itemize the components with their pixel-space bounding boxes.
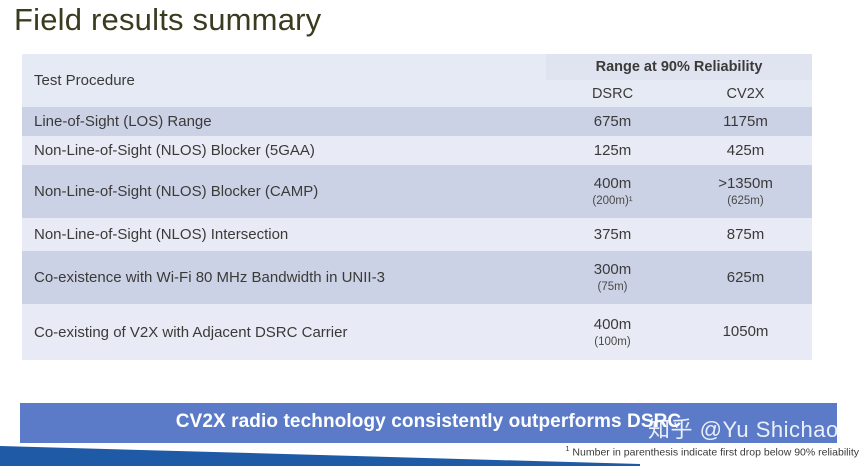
table-row: Non-Line-of-Sight (NLOS) Blocker (5GAA) …: [22, 136, 812, 165]
column-header-cv2x: CV2X: [679, 80, 812, 107]
cell-test-procedure: Non-Line-of-Sight (NLOS) Blocker (CAMP): [22, 165, 546, 218]
cv2x-secondary-value: (625m): [679, 194, 812, 209]
column-header-range-group: Range at 90% Reliability: [546, 54, 812, 80]
dsrc-secondary-value: (200m)¹: [546, 194, 679, 209]
cell-cv2x-value: 1050m: [679, 304, 812, 360]
cv2x-primary-value: 425m: [727, 142, 765, 159]
cell-dsrc-value: 400m (100m): [546, 304, 679, 360]
page-title: Field results summary: [14, 0, 321, 40]
dsrc-secondary-value: (75m): [546, 280, 679, 295]
cell-cv2x-value: 425m: [679, 136, 812, 165]
cell-dsrc-value: 300m (75m): [546, 251, 679, 304]
cell-test-procedure: Line-of-Sight (LOS) Range: [22, 107, 546, 136]
cv2x-primary-value: 875m: [727, 226, 765, 243]
table-header-row-group: Test Procedure Range at 90% Reliability: [22, 54, 812, 80]
dsrc-primary-value: 125m: [594, 142, 632, 159]
cell-dsrc-value: 375m: [546, 218, 679, 251]
summary-banner-text: CV2X radio technology consistently outpe…: [20, 411, 837, 433]
column-header-dsrc: DSRC: [546, 80, 679, 107]
cell-cv2x-value: 1175m: [679, 107, 812, 136]
cell-cv2x-value: >1350m (625m): [679, 165, 812, 218]
dsrc-secondary-value: (100m): [546, 335, 679, 350]
cell-dsrc-value: 400m (200m)¹: [546, 165, 679, 218]
table-row: Non-Line-of-Sight (NLOS) Intersection 37…: [22, 218, 812, 251]
table-body: Line-of-Sight (LOS) Range 675m 1175m Non…: [22, 107, 812, 360]
dsrc-primary-value: 300m: [594, 261, 632, 278]
table-row: Line-of-Sight (LOS) Range 675m 1175m: [22, 107, 812, 136]
decorative-swoosh: [0, 445, 640, 466]
field-results-table: Test Procedure Range at 90% Reliability …: [22, 54, 812, 360]
cell-test-procedure: Co-existing of V2X with Adjacent DSRC Ca…: [22, 304, 546, 360]
dsrc-primary-value: 375m: [594, 226, 632, 243]
dsrc-primary-value: 400m: [594, 316, 632, 333]
column-header-test-procedure: Test Procedure: [22, 54, 546, 107]
cell-cv2x-value: 875m: [679, 218, 812, 251]
cv2x-primary-value: >1350m: [718, 175, 773, 192]
table-header: Test Procedure Range at 90% Reliability …: [22, 54, 812, 107]
cv2x-primary-value: 1175m: [723, 113, 768, 130]
cv2x-primary-value: 625m: [727, 269, 765, 286]
cv2x-primary-value: 1050m: [723, 323, 769, 340]
table-row: Co-existence with Wi-Fi 80 MHz Bandwidth…: [22, 251, 812, 304]
table-row: Co-existing of V2X with Adjacent DSRC Ca…: [22, 304, 812, 360]
cell-cv2x-value: 625m: [679, 251, 812, 304]
footnote: 1 Number in parenthesis indicate first d…: [565, 444, 859, 459]
dsrc-primary-value: 675m: [594, 113, 632, 130]
dsrc-primary-value: 400m: [594, 175, 632, 192]
table-row: Non-Line-of-Sight (NLOS) Blocker (CAMP) …: [22, 165, 812, 218]
cell-dsrc-value: 675m: [546, 107, 679, 136]
cell-test-procedure: Co-existence with Wi-Fi 80 MHz Bandwidth…: [22, 251, 546, 304]
swoosh-shape: [0, 445, 640, 466]
summary-banner: CV2X radio technology consistently outpe…: [20, 403, 837, 443]
cell-dsrc-value: 125m: [546, 136, 679, 165]
cell-test-procedure: Non-Line-of-Sight (NLOS) Blocker (5GAA): [22, 136, 546, 165]
footnote-text: Number in parenthesis indicate first dro…: [570, 447, 859, 459]
cell-test-procedure: Non-Line-of-Sight (NLOS) Intersection: [22, 218, 546, 251]
